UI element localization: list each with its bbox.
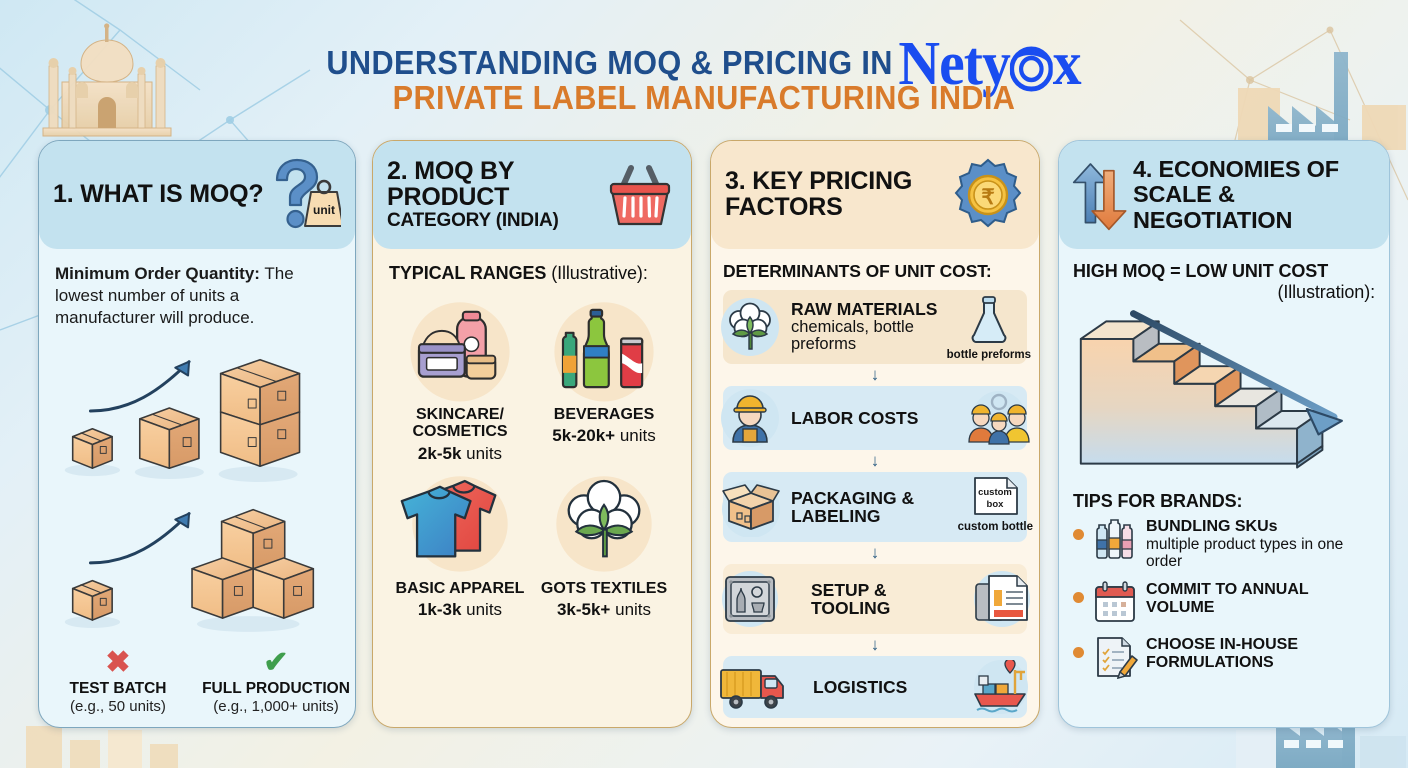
card4-headline: HIGH MOQ = LOW UNIT COST: [1073, 261, 1375, 282]
flow-row-packaging: PACKAGING & LABELING custom box custom b…: [723, 472, 1027, 542]
category-textiles-label: GOTS TEXTILES: [533, 580, 675, 597]
full-production-label: FULL PRODUCTION: [197, 680, 355, 698]
card1-body: Minimum Order Quantity: The lowest numbe…: [39, 249, 355, 728]
tips-list: BUNDLING SKUs multiple product types in …: [1073, 516, 1375, 680]
bullet-icon: [1073, 647, 1084, 658]
header-title-line2: PRIVATE LABEL MANUFACTURING INDIA: [49, 81, 1358, 116]
tip-bundling-sub: multiple product types in one order: [1146, 536, 1375, 571]
flow-arrow-2: ↓: [723, 450, 1027, 472]
tip-bundling-text: BUNDLING SKUs multiple product types in …: [1146, 516, 1375, 570]
flow-labor-costs-text: LABOR COSTS: [791, 409, 918, 428]
svg-text:box: box: [987, 499, 1005, 510]
category-skincare-qty: 2k-5k units: [389, 444, 531, 464]
tip-in-house-formulations: CHOOSE IN-HOUSE FORMULATIONS: [1073, 634, 1375, 680]
flask-icon: [968, 296, 1010, 344]
tip-bundling-skus: BUNDLING SKUs multiple product types in …: [1073, 516, 1375, 570]
category-apparel-qty: 1k-3k units: [389, 600, 531, 620]
tip-in-house-text: CHOOSE IN-HOUSE FORMULATIONS: [1146, 634, 1375, 671]
card3-section-label: DETERMINANTS OF UNIT COST:: [723, 261, 1027, 282]
documents-icon: [971, 570, 1033, 628]
test-batch-sub: (e.g., 50 units): [39, 698, 197, 715]
category-apparel-label: BASIC APPAREL: [389, 580, 531, 597]
category-beverages-label: BEVERAGES: [533, 406, 675, 423]
flow-packaging-right: custom box custom bottle: [958, 476, 1033, 533]
svg-text:custom: custom: [978, 487, 1012, 498]
category-grid: SKINCARE/ COSMETICS 2k-5k units: [389, 294, 675, 620]
card-key-pricing-factors: 3. KEY PRICING FACTORS ₹ DETERMINANTS OF…: [710, 140, 1040, 728]
full-production-sub: (e.g., 1,000+ units): [197, 698, 355, 715]
flow-setup-tooling-text: SETUP & TOOLING: [791, 581, 957, 618]
truck-icon: [719, 660, 789, 714]
cargo-ship-icon: [969, 660, 1033, 714]
card2-title-main: 2. MOQ BY PRODUCT: [387, 157, 514, 211]
flow-row-labor-costs: LABOR COSTS: [723, 386, 1027, 450]
card4-body: HIGH MOQ = LOW UNIT COST (Illustration):: [1059, 249, 1389, 728]
custom-box-doc-icon: custom box: [969, 476, 1021, 516]
test-batch-label: TEST BATCH: [39, 680, 197, 698]
flow-arrow-4: ↓: [723, 634, 1027, 656]
cards-container: 1. WHAT IS MOQ? unit Minimum Order Quant…: [0, 140, 1408, 740]
raw-materials-label: RAW MATERIALS: [791, 299, 937, 319]
card-what-is-moq: 1. WHAT IS MOQ? unit Minimum Order Quant…: [38, 140, 356, 728]
card1-lead: Minimum Order Quantity: The lowest numbe…: [55, 263, 339, 328]
cotton-boll-icon: [533, 468, 675, 576]
shopping-basket-icon: [603, 156, 677, 234]
category-skincare-label: SKINCARE/ COSMETICS: [389, 406, 531, 441]
svg-text:₹: ₹: [981, 186, 994, 209]
card1-footer: ✖ TEST BATCH (e.g., 50 units) ✔ FULL PRO…: [39, 648, 355, 715]
packaging-labeling-label: PACKAGING & LABELING: [791, 489, 955, 526]
category-apparel: BASIC APPAREL 1k-3k units: [389, 468, 531, 620]
tips-for-brands-label: TIPS FOR BRANDS:: [1073, 491, 1375, 512]
page-header: UNDERSTANDING MOQ & PRICING INNetyx PRIV…: [0, 8, 1408, 126]
calendar-icon: [1092, 579, 1138, 625]
brand-o-icon: [1010, 40, 1053, 86]
category-textiles: GOTS TEXTILES 3k-5k+ units: [533, 468, 675, 620]
question-mark-weight-icon: unit: [267, 156, 341, 234]
cost-determinants-flow: RAW MATERIALS chemicals, bottle preforms…: [723, 290, 1027, 718]
tshirts-icon: [389, 468, 531, 576]
card-economies-of-scale: 4. ECONOMIES OF SCALE & NEGOTIATION HIGH…: [1058, 140, 1390, 728]
illustrative-note: (Illustrative):: [551, 263, 648, 283]
card3-header: 3. KEY PRICING FACTORS ₹: [711, 141, 1039, 249]
tip-annual-volume: COMMIT TO ANNUAL VOLUME: [1073, 579, 1375, 625]
category-textiles-qty: 3k-5k+ units: [533, 600, 675, 620]
card2-title: 2. MOQ BY PRODUCT CATEGORY (INDIA): [387, 159, 603, 230]
unit-tag-label: unit: [313, 203, 335, 217]
check-icon: ✔: [197, 648, 355, 678]
card1-footer-full-production: ✔ FULL PRODUCTION (e.g., 1,000+ units): [197, 648, 355, 715]
bullet-icon: [1073, 592, 1084, 603]
header-title-line1-text: UNDERSTANDING MOQ & PRICING IN: [327, 44, 893, 81]
card-moq-by-category: 2. MOQ BY PRODUCT CATEGORY (INDIA) TYPIC…: [372, 140, 692, 728]
card1-title: 1. WHAT IS MOQ?: [53, 182, 267, 208]
category-beverages: BEVERAGES 5k-20k+ units: [533, 294, 675, 464]
flow-row-logistics: LOGISTICS: [723, 656, 1027, 718]
flow-row-raw-materials: RAW MATERIALS chemicals, bottle preforms…: [723, 290, 1027, 364]
beverage-bottles-icon: [533, 294, 675, 402]
bottle-preforms-label: bottle preforms: [947, 349, 1031, 361]
card4-title: 4. ECONOMIES OF SCALE & NEGOTIATION: [1129, 157, 1375, 233]
checklist-pencil-icon: [1092, 634, 1138, 680]
card2-section-label: TYPICAL RANGES (Illustrative):: [389, 263, 675, 284]
mold-tooling-icon: [719, 570, 781, 628]
workers-group-icon: [965, 390, 1033, 446]
flow-row-setup-tooling: SETUP & TOOLING: [723, 564, 1027, 634]
card4-headline-sub: (Illustration):: [1073, 282, 1375, 303]
cross-icon: ✖: [39, 648, 197, 678]
flow-arrow-3: ↓: [723, 542, 1027, 564]
card2-title-sub: CATEGORY (INDIA): [387, 211, 603, 231]
cotton-boll-icon: [719, 296, 781, 358]
flow-raw-materials-text: RAW MATERIALS chemicals, bottle preforms: [791, 300, 957, 354]
open-box-icon: [719, 477, 783, 537]
typical-ranges-label: TYPICAL RANGES: [389, 263, 546, 283]
card1-lead-bold: Minimum Order Quantity:: [55, 264, 260, 283]
raw-materials-sub: chemicals, bottle preforms: [791, 319, 957, 354]
card3-body: DETERMINANTS OF UNIT COST:: [711, 249, 1039, 728]
card1-header: 1. WHAT IS MOQ? unit: [39, 141, 355, 249]
flow-packaging-text: PACKAGING & LABELING: [791, 489, 955, 526]
flow-raw-materials-right: bottle preforms: [947, 296, 1031, 361]
worker-icon: [719, 387, 781, 449]
card2-header: 2. MOQ BY PRODUCT CATEGORY (INDIA): [373, 141, 691, 249]
tip-bundling-title: BUNDLING SKUs: [1146, 518, 1278, 535]
category-beverages-qty: 5k-20k+ units: [533, 426, 675, 446]
skincare-jar-icon: [389, 294, 531, 402]
stairs-illustration: [1073, 307, 1375, 487]
custom-bottle-label: custom bottle: [958, 521, 1033, 533]
boxes-growth-illustration: [51, 332, 337, 632]
gear-rupee-coin-icon: ₹: [951, 156, 1025, 234]
category-skincare: SKINCARE/ COSMETICS 2k-5k units: [389, 294, 531, 464]
setup-tooling-label: SETUP & TOOLING: [811, 581, 957, 618]
bottles-group-icon: [1092, 516, 1138, 562]
bullet-icon: [1073, 529, 1084, 540]
tip-annual-volume-text: COMMIT TO ANNUAL VOLUME: [1146, 579, 1375, 616]
card4-header: 4. ECONOMIES OF SCALE & NEGOTIATION: [1059, 141, 1389, 249]
up-down-arrows-icon: [1067, 154, 1129, 236]
flow-logistics-text: LOGISTICS: [791, 678, 907, 697]
card1-footer-test-batch: ✖ TEST BATCH (e.g., 50 units): [39, 648, 197, 715]
header-title-line1: UNDERSTANDING MOQ & PRICING INNetyx: [327, 8, 1081, 87]
flow-arrow-1: ↓: [723, 364, 1027, 386]
card3-title: 3. KEY PRICING FACTORS: [725, 169, 951, 221]
card2-body: TYPICAL RANGES (Illustrative):: [373, 249, 691, 728]
